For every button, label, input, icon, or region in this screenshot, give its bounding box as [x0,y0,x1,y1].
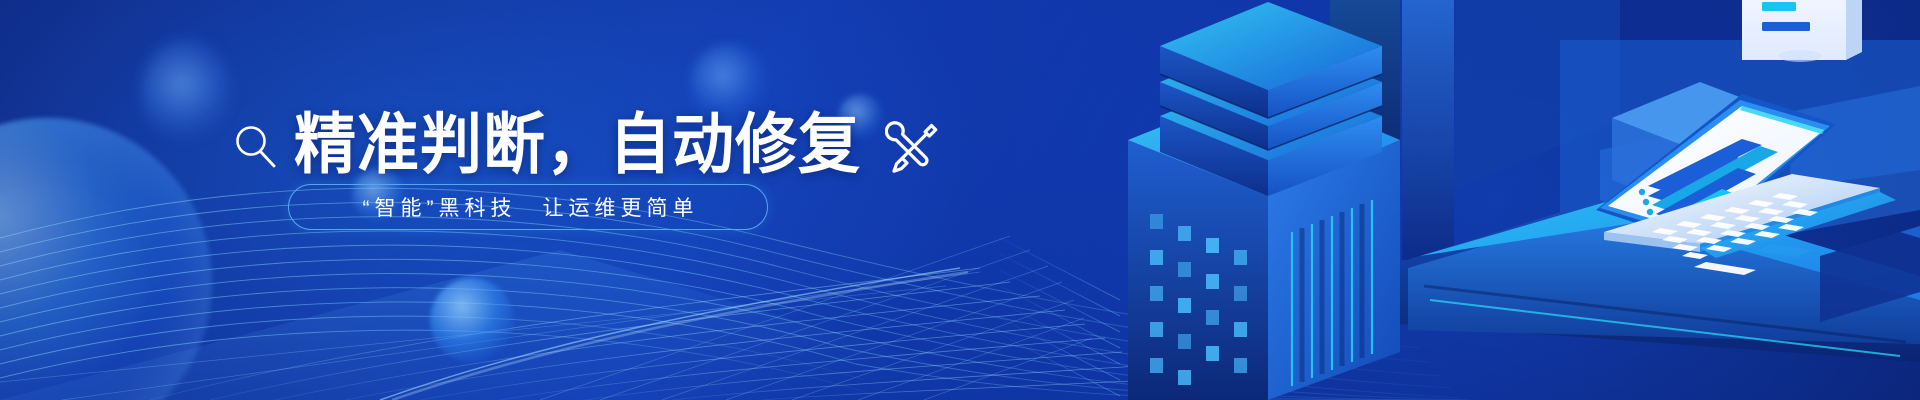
hero-banner: 精准判断，自动修复 “智能”黑科技 让运维更简单 [0,0,1920,400]
subtitle-text: “智能”黑科技 让运维更简单 [358,192,699,222]
subtitle-pill: “智能”黑科技 让运维更简单 [288,184,768,230]
headline-row: 精准判断，自动修复 [232,108,943,184]
wrench-screwdriver-icon [885,117,943,175]
isometric-illustration [1000,0,1920,400]
magnifier-icon [232,122,278,170]
isometric-document-card [1742,0,1862,62]
floor-grid [1000,230,1120,400]
page-title: 精准判断，自动修复 [294,113,861,179]
